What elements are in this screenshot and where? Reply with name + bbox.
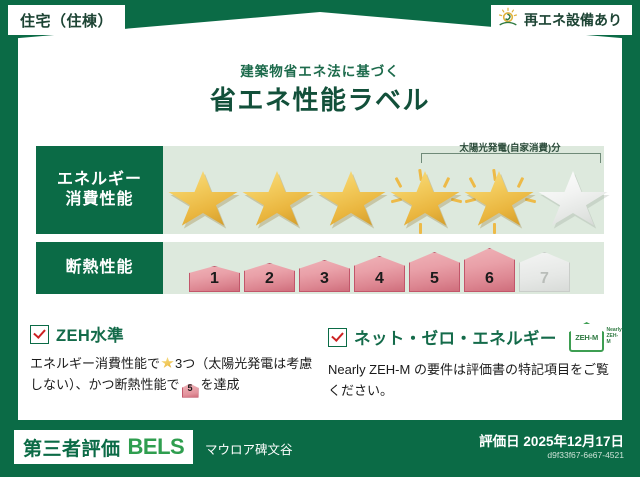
label-footer: 第三者評価 BELS マウロア碑文谷 評価日 2025年12月17日 d9f33… <box>0 420 640 477</box>
insulation-level-label: 4 <box>354 256 405 292</box>
energy-label-line1: エネルギー <box>57 170 142 190</box>
insulation-performance-row-label: 断熱性能 <box>36 242 163 294</box>
bels-logo-text: BELS <box>128 434 185 460</box>
insulation-level-label: 5 <box>409 252 460 292</box>
zeh-criterion-block: ZEH水準 エネルギー消費性能で3つ（太陽光発電は考慮しない）、かつ断熱性能で5… <box>30 322 320 398</box>
label-subtitle: 建築物省エネ法に基づく <box>0 60 640 80</box>
zeh-m-badge-caption: Nearly ZEH-M <box>606 328 622 345</box>
energy-performance-row-value: 太陽光発電(自家消費)分 <box>163 146 604 234</box>
solar-sparkle-ray-5 <box>419 223 422 234</box>
renewable-energy-tag: 再エネ設備あり <box>491 5 632 35</box>
zeh-body-part1: エネルギー消費性能で <box>30 356 160 371</box>
insulation-level-label: 1 <box>189 266 240 292</box>
zeh-body-part3: を達成 <box>201 377 240 392</box>
netzero-criterion-header: ネット・ゼロ・エネルギー ZEH-M Nearly ZEH-M <box>328 322 620 352</box>
solar-sparkle-ray-2 <box>517 177 525 188</box>
zeh-m-badge: ZEH-M Nearly ZEH-M <box>569 322 622 352</box>
insulation-level-6: 6 <box>464 248 515 292</box>
energy-label-line2: 消費性能 <box>65 190 133 210</box>
evaluation-id: d9f33f67-6e67-4521 <box>547 450 624 460</box>
builder-name: マウロア碑文谷 <box>205 439 293 458</box>
star-icon <box>161 357 174 369</box>
insulation-level-5: 5 <box>409 252 460 292</box>
insulation-level-7: 7 <box>519 252 570 292</box>
building-type-tag-label: 住宅（住棟） <box>20 10 113 31</box>
insulation-level-scale: 1234567 <box>189 248 570 292</box>
insulation-label: 断熱性能 <box>65 258 133 278</box>
insulation-level-2: 2 <box>244 263 295 292</box>
renewable-energy-tag-label: 再エネ設備あり <box>524 10 622 30</box>
netzero-checkbox-icon <box>328 328 347 347</box>
insulation-level-label: 7 <box>519 252 570 292</box>
zeh-m-caption-line2: ZEH-M <box>606 333 618 345</box>
insulation-level-label: 2 <box>244 263 295 292</box>
star-2 <box>241 165 313 231</box>
insulation-level-1: 1 <box>189 266 240 292</box>
energy-performance-row: エネルギー 消費性能 太陽光発電(自家消費)分 <box>36 146 604 234</box>
insulation-performance-row-value: 1234567 <box>163 242 604 294</box>
insulation-level-label: 3 <box>299 260 350 292</box>
bels-badge: 第三者評価 BELS <box>14 430 193 464</box>
star-5 <box>463 165 535 231</box>
zeh-m-badge-text: ZEH-M <box>575 333 598 342</box>
energy-performance-label: 住宅（住棟） 再エネ設備あり 建築物省エネ法に基づく 省エネ性能ラベル <box>0 0 640 477</box>
star-6 <box>537 165 609 231</box>
solar-annotation-bracket <box>421 153 601 163</box>
solar-sparkle-ray-2 <box>443 177 451 188</box>
insulation-performance-row: 断熱性能 1234567 <box>36 242 604 294</box>
energy-performance-row-label: エネルギー 消費性能 <box>36 146 163 234</box>
zeh-criterion-body: エネルギー消費性能で3つ（太陽光発電は考慮しない）、かつ断熱性能で5を達成 <box>30 353 320 398</box>
zeh-m-house-icon: ZEH-M <box>569 322 605 352</box>
star-3 <box>315 165 387 231</box>
zeh-criterion-header: ZEH水準 <box>30 322 320 346</box>
netzero-criterion-title: ネット・ゼロ・エネルギー <box>354 325 557 349</box>
solar-sparkle-ray-5 <box>493 223 496 234</box>
solar-sparkle-ray-0 <box>469 177 477 188</box>
solar-sparkle-ray-0 <box>395 177 403 188</box>
star-4 <box>389 165 461 231</box>
insulation-level-3: 3 <box>299 260 350 292</box>
zeh-checkbox-icon <box>30 325 49 344</box>
netzero-criterion-body: Nearly ZEH-M の要件は評価書の特記項目をご覧ください。 <box>328 359 620 401</box>
solar-annotation-label: 太陽光発電(自家消費)分 <box>417 140 603 154</box>
insulation-level-label: 6 <box>464 248 515 292</box>
evaluation-date: 評価日 2025年12月17日 <box>479 430 624 450</box>
zeh-criterion-title: ZEH水準 <box>56 322 124 346</box>
label-title: 省エネ性能ラベル <box>0 80 640 117</box>
netzero-criterion-block: ネット・ゼロ・エネルギー ZEH-M Nearly ZEH-M Nearly Z… <box>328 322 620 401</box>
building-type-tag: 住宅（住棟） <box>8 5 125 35</box>
sun-leaf-icon <box>497 7 519 34</box>
insulation-level-4: 4 <box>354 256 405 292</box>
star-1 <box>167 165 239 231</box>
bels-prefix-label: 第三者評価 <box>23 434 121 461</box>
star-rating <box>167 165 609 231</box>
house-level-icon: 5 <box>182 384 199 398</box>
